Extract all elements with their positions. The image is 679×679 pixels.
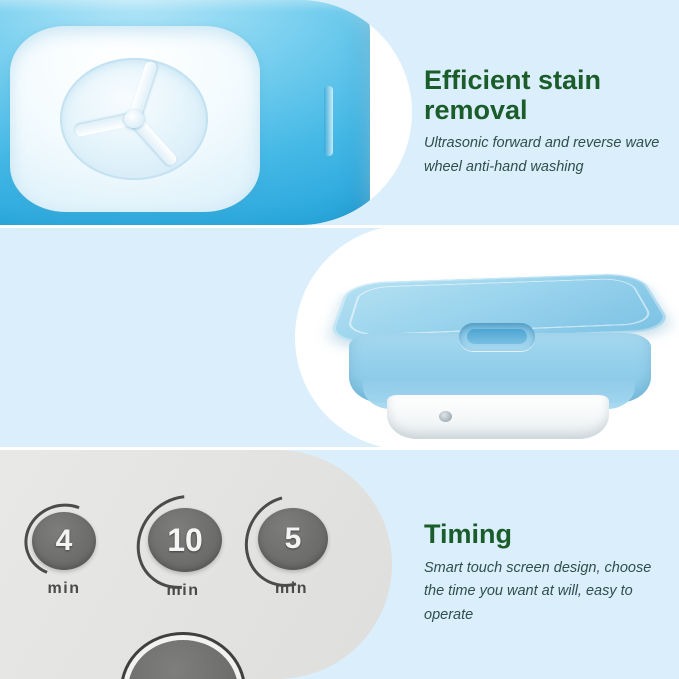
blue-tub-photo-plate [0, 0, 412, 225]
timer-unit-label: min [32, 580, 96, 598]
timer-button-face[interactable]: 5 [258, 508, 328, 570]
panel-divider [0, 225, 679, 228]
timer-value: 4 [56, 526, 73, 556]
wave-wheel-icon [60, 58, 208, 180]
feature-panel-foldable: Foldable Travel, easy to put into the su… [0, 225, 679, 450]
feature-text-timing: Timing Smart touch screen design, choose… [424, 520, 668, 627]
feature-heading: Timing [424, 520, 668, 550]
folded-washer-photo-plate [295, 225, 679, 450]
washer-lid-handle-slot [467, 329, 527, 344]
feature-heading: Efficient stain removal [424, 66, 664, 125]
timer-value: 10 [167, 524, 203, 556]
wave-wheel-hub [124, 110, 144, 128]
timer-button-4-min[interactable]: 4 min [32, 512, 96, 598]
folded-washing-machine-image [335, 249, 665, 439]
timer-unit-label: min [154, 582, 212, 600]
timer-button-face[interactable]: 4 [32, 512, 96, 570]
tub-rim-highlight-lower [0, 0, 362, 12]
timer-unit-label: min [261, 580, 322, 598]
timer-button-face[interactable]: 10 [148, 508, 222, 572]
blue-tub-with-wave-wheel-image [0, 0, 370, 225]
washer-base-screw [439, 411, 452, 422]
timer-value: 5 [285, 524, 302, 554]
timer-button-5-min[interactable]: 5 min [258, 508, 322, 598]
panel-divider [0, 447, 679, 450]
feature-description: Ultrasonic forward and reverse wave whee… [424, 132, 664, 179]
feature-text-efficient-stain-removal: Efficient stain removal Ultrasonic forwa… [424, 66, 664, 179]
product-infographic: Efficient stain removal Ultrasonic forwa… [0, 0, 679, 679]
tub-seam-right [324, 86, 333, 156]
feature-panel-efficient-stain-removal: Efficient stain removal Ultrasonic forwa… [0, 0, 679, 225]
feature-description: Smart touch screen design, choose the ti… [424, 557, 668, 627]
timer-button-10-min[interactable]: 10 min [148, 508, 212, 600]
washer-base-unit [387, 395, 609, 439]
